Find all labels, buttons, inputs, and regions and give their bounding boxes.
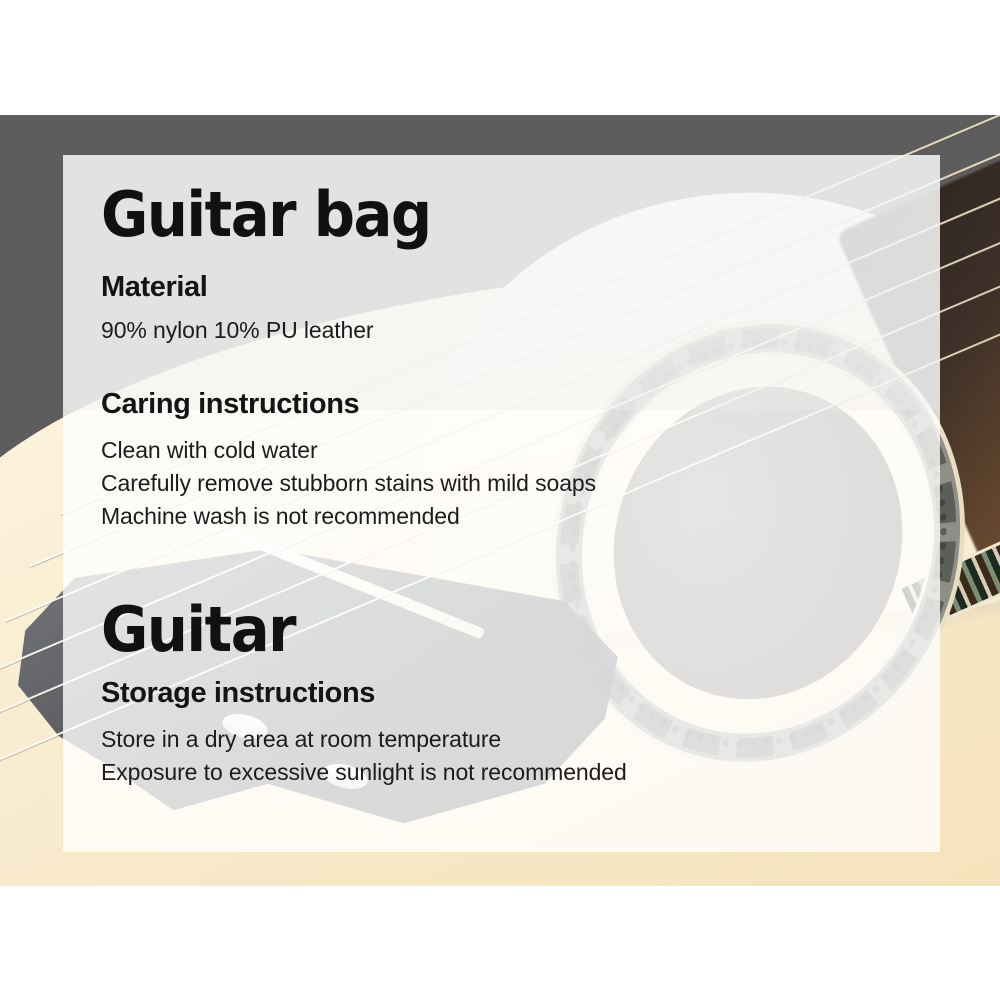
caring-line: Carefully remove stubborn stains with mi… xyxy=(101,467,940,500)
section-caring-instructions: Caring instructions Clean with cold wate… xyxy=(101,387,940,533)
info-panel: Guitar bag Material 90% nylon 10% PU lea… xyxy=(63,155,940,852)
caring-line: Clean with cold water xyxy=(101,434,940,467)
caring-line: Machine wash is not recommended xyxy=(101,500,940,533)
heading-caring-instructions: Caring instructions xyxy=(101,387,940,422)
material-line: 90% nylon 10% PU leather xyxy=(101,314,940,347)
storage-line: Exposure to excessive sunlight is not re… xyxy=(101,756,940,789)
heading-storage-instructions: Storage instructions xyxy=(101,676,940,711)
page-title-guitar-bag: Guitar bag xyxy=(101,183,881,246)
section-guitar: Guitar xyxy=(101,598,940,661)
storage-line: Store in a dry area at room temperature xyxy=(101,723,940,756)
panel-content: Guitar bag Material 90% nylon 10% PU lea… xyxy=(63,155,940,789)
heading-material: Material xyxy=(101,270,940,305)
section-material: Material 90% nylon 10% PU leather xyxy=(101,270,940,346)
product-info-image: Guitar bag Material 90% nylon 10% PU lea… xyxy=(0,0,1000,1000)
page-title-guitar: Guitar xyxy=(101,598,881,661)
section-storage-instructions: Storage instructions Store in a dry area… xyxy=(101,676,940,789)
